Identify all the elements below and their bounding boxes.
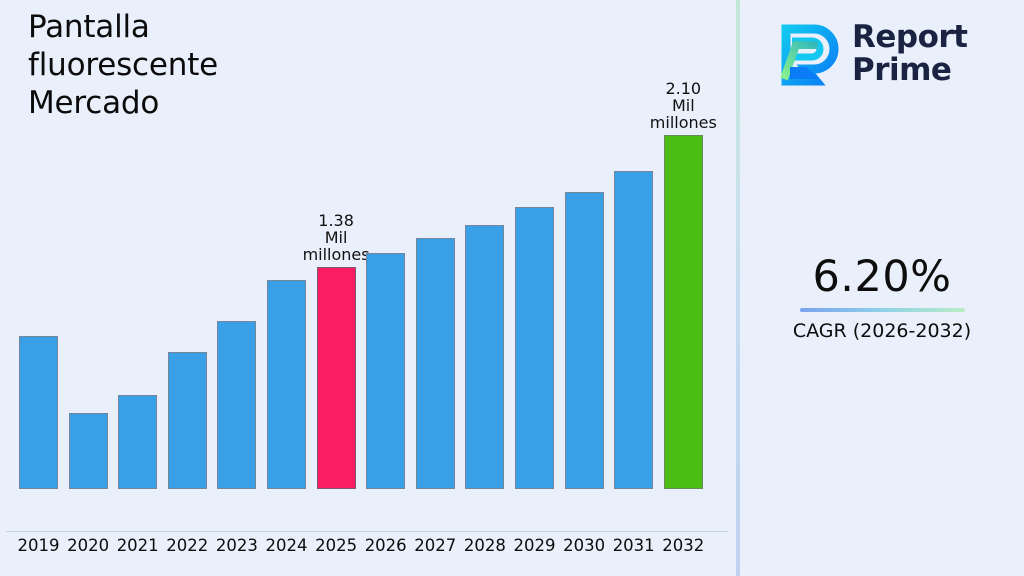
cagr-label: CAGR (2026-2032)	[740, 319, 1024, 343]
bar-group-2030[interactable]	[565, 192, 604, 489]
bar-2028[interactable]	[465, 225, 504, 489]
bar-group-2021[interactable]	[118, 395, 157, 489]
brand-name: Report Prime	[852, 21, 968, 87]
bar-2029[interactable]	[515, 207, 554, 489]
bar-group-2019[interactable]	[19, 336, 58, 489]
bar-group-2020[interactable]	[69, 413, 108, 489]
bar-2019[interactable]	[19, 336, 58, 489]
bar-2026[interactable]	[366, 253, 405, 489]
bar-group-2031[interactable]	[614, 171, 653, 489]
bar-2027[interactable]	[416, 238, 455, 489]
x-axis-tick-2020: 2020	[63, 536, 114, 556]
x-axis-tick-2027: 2027	[410, 536, 461, 556]
bar-group-2032[interactable]: 2.10 Mil millones	[664, 135, 703, 489]
x-axis-tick-2019: 2019	[13, 536, 64, 556]
x-axis-baseline	[6, 531, 728, 532]
bar-2024[interactable]	[267, 280, 306, 489]
bar-group-2024[interactable]	[267, 280, 306, 489]
x-axis-tick-2026: 2026	[360, 536, 411, 556]
x-axis-tick-2022: 2022	[162, 536, 213, 556]
bar-group-2022[interactable]	[168, 352, 207, 489]
bar-group-2023[interactable]	[217, 321, 256, 489]
info-panel: Report Prime 6.20% CAGR (2026-2032)	[740, 0, 1024, 576]
bar-group-2028[interactable]	[465, 225, 504, 489]
x-axis-tick-2030: 2030	[559, 536, 610, 556]
x-axis-tick-2029: 2029	[509, 536, 560, 556]
cagr-value: 6.20%	[740, 252, 1024, 302]
brand-logo: Report Prime	[770, 12, 1010, 96]
x-axis-tick-2023: 2023	[211, 536, 262, 556]
bar-2022[interactable]	[168, 352, 207, 489]
bar-group-2026[interactable]	[366, 253, 405, 489]
bar-group-2027[interactable]	[416, 238, 455, 489]
bar-2030[interactable]	[565, 192, 604, 489]
chart-screenshot: Pantalla fluorescente Mercado 1.38 Mil m…	[0, 0, 1024, 576]
chart-panel: Pantalla fluorescente Mercado 1.38 Mil m…	[0, 0, 737, 576]
x-axis-tick-2028: 2028	[459, 536, 510, 556]
bar-2023[interactable]	[217, 321, 256, 489]
x-axis-tick-2024: 2024	[261, 536, 312, 556]
bar-chart-plot-area: 1.38 Mil millones2.10 Mil millones	[0, 0, 737, 533]
bar-group-2025[interactable]: 1.38 Mil millones	[317, 267, 356, 489]
bar-2025[interactable]	[317, 267, 356, 489]
cagr-block: 6.20% CAGR (2026-2032)	[740, 252, 1024, 343]
bar-value-label-2032: 2.10 Mil millones	[637, 80, 729, 131]
bar-2021[interactable]	[118, 395, 157, 489]
bar-2031[interactable]	[614, 171, 653, 489]
bar-group-2029[interactable]	[515, 207, 554, 489]
x-axis-tick-2031: 2031	[608, 536, 659, 556]
x-axis-tick-2025: 2025	[311, 536, 362, 556]
x-axis-tick-2021: 2021	[112, 536, 163, 556]
bar-2032[interactable]	[664, 135, 703, 489]
x-axis-tick-2032: 2032	[658, 536, 709, 556]
report-prime-logo-icon	[770, 21, 842, 87]
cagr-divider-rule	[800, 308, 965, 312]
bar-2020[interactable]	[69, 413, 108, 489]
